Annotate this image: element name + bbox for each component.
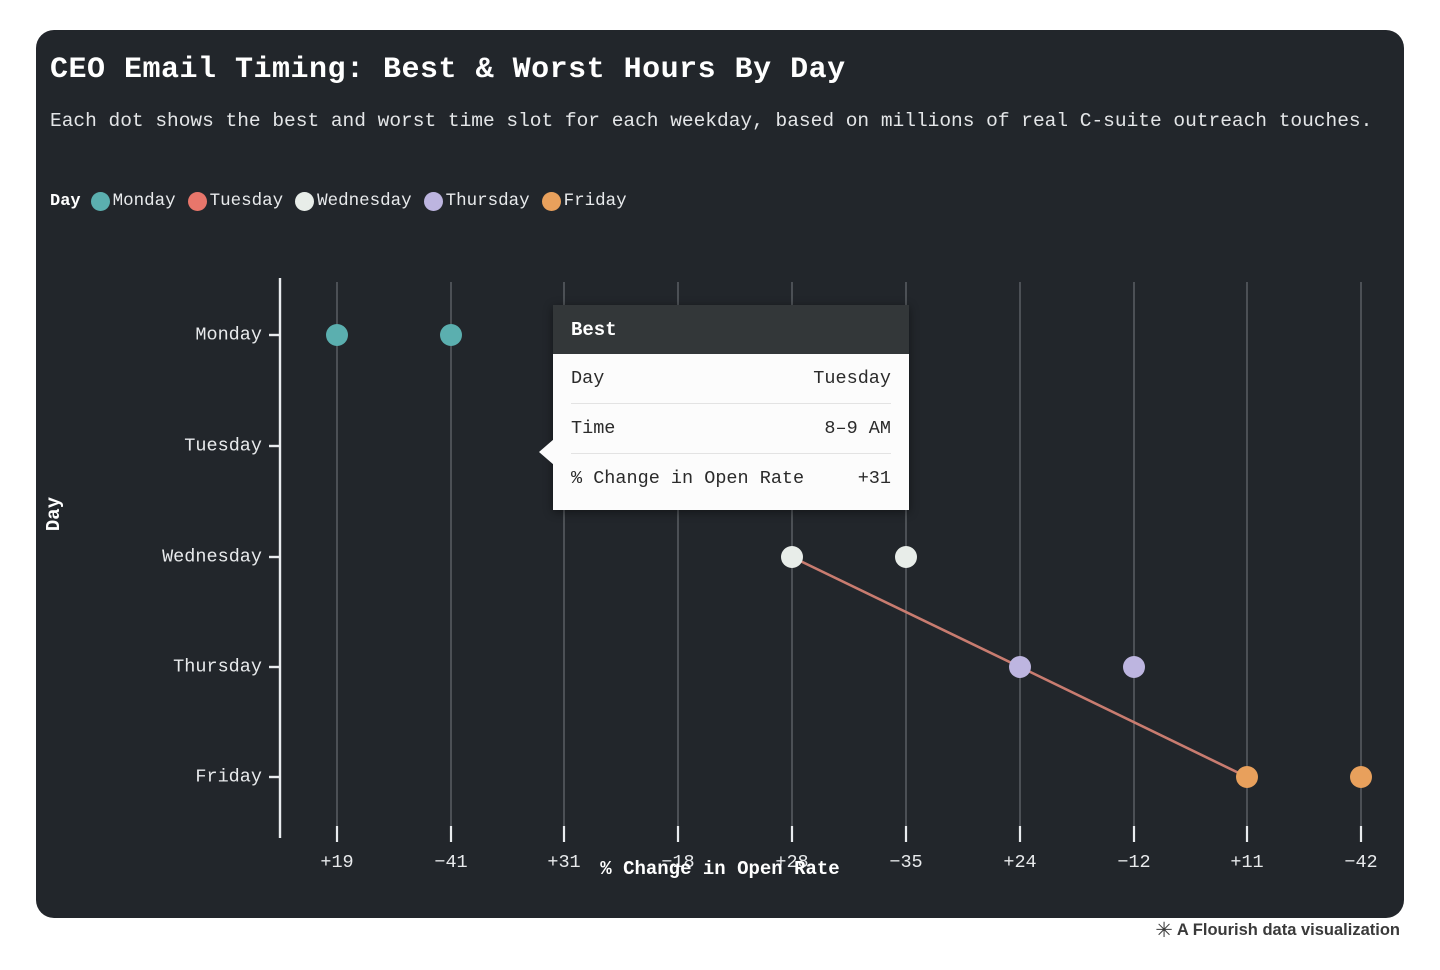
screenshot-root: CEO Email Timing: Best & Worst Hours By …	[0, 0, 1440, 970]
y-axis-title: Day	[43, 497, 65, 531]
tooltip-header: Best	[553, 305, 909, 354]
data-point-wednesday-best[interactable]	[781, 546, 803, 568]
flourish-credit-label: A Flourish data visualization	[1177, 921, 1400, 940]
data-point-thursday-worst[interactable]	[1123, 656, 1145, 678]
data-point-monday-best[interactable]	[326, 324, 348, 346]
data-point-thursday-best[interactable]	[1009, 656, 1031, 678]
tooltip-row-value: +31	[858, 466, 891, 492]
tooltip-row-value: 8–9 AM	[824, 416, 891, 442]
data-point-friday-worst[interactable]	[1350, 766, 1372, 788]
y-axis-label-tuesday: Tuesday	[184, 436, 262, 457]
flourish-credit[interactable]: ✳ A Flourish data visualization	[1155, 920, 1400, 941]
tooltip-row-key: % Change in Open Rate	[571, 466, 804, 492]
asterisk-icon: ✳	[1155, 920, 1173, 941]
y-axis-label-monday: Monday	[195, 325, 262, 346]
x-axis-title: % Change in Open Rate	[36, 858, 1404, 880]
tooltip-row: DayTuesday	[571, 354, 891, 404]
tooltip-body: DayTuesdayTime8–9 AM% Change in Open Rat…	[553, 354, 909, 510]
y-axis-label-wednesday: Wednesday	[162, 547, 262, 568]
data-point-monday-worst[interactable]	[440, 324, 462, 346]
tooltip-row-value: Tuesday	[813, 366, 891, 392]
chart-card: CEO Email Timing: Best & Worst Hours By …	[36, 30, 1404, 918]
tooltip-row-key: Time	[571, 416, 615, 442]
tooltip-row-key: Day	[571, 366, 604, 392]
y-axis-label-thursday: Thursday	[173, 657, 262, 678]
data-point-friday-best[interactable]	[1236, 766, 1258, 788]
data-point-wednesday-worst[interactable]	[895, 546, 917, 568]
tooltip-row: Time8–9 AM	[571, 404, 891, 454]
tooltip-arrow	[539, 439, 554, 465]
tooltip-row: % Change in Open Rate+31	[571, 454, 891, 496]
y-axis-label-friday: Friday	[195, 767, 262, 788]
point-tooltip: Best DayTuesdayTime8–9 AM% Change in Ope…	[553, 305, 909, 510]
